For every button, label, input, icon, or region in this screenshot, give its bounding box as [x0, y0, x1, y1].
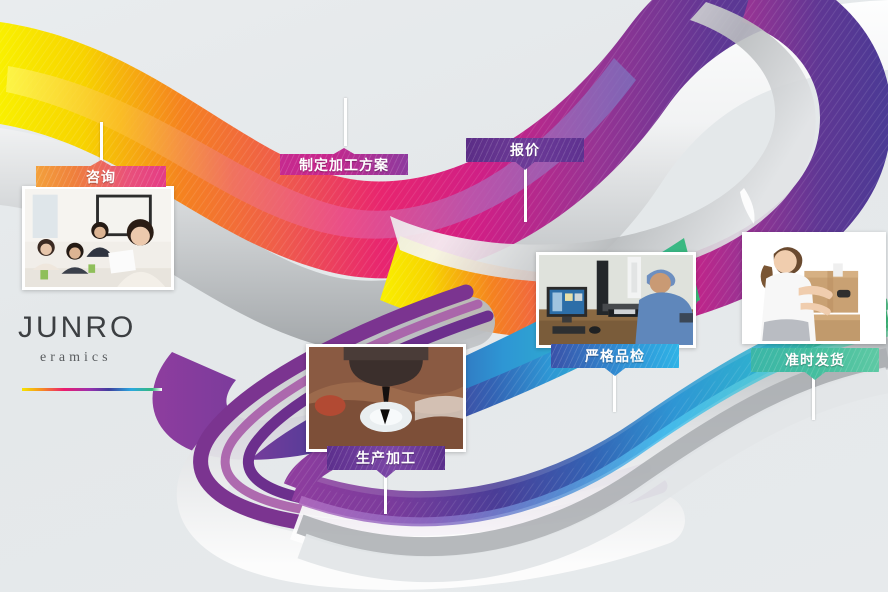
label-produce-text: 生产加工	[356, 448, 416, 468]
quality-inspection-photo	[536, 252, 696, 348]
label-plan-text: 制定加工方案	[299, 155, 389, 175]
stem-consult	[100, 122, 103, 166]
stem-inspect	[613, 370, 616, 412]
brand-subtitle: eramics	[40, 350, 208, 366]
stem-quote	[524, 168, 527, 222]
brand-rainbow-rule	[22, 388, 162, 391]
label-consult-text: 咨询	[86, 167, 116, 187]
business-meeting-photo	[22, 186, 174, 290]
brand-name: JUNRO	[18, 312, 208, 344]
label-quote-text: 报价	[510, 140, 540, 160]
brand-logo: JUNRO eramics	[18, 312, 208, 391]
label-ship-text: 准时发货	[785, 350, 845, 370]
label-inspect-text: 严格品检	[585, 346, 645, 366]
packing-boxes-photo	[742, 232, 886, 344]
process-infographic: 咨询 制定加工方案 报价 生产加工 严格品检 准时发货 JUNRO eramic…	[0, 0, 888, 592]
cnc-drilling-photo	[306, 344, 466, 452]
stem-plan	[344, 98, 347, 146]
stem-ship	[812, 376, 815, 420]
